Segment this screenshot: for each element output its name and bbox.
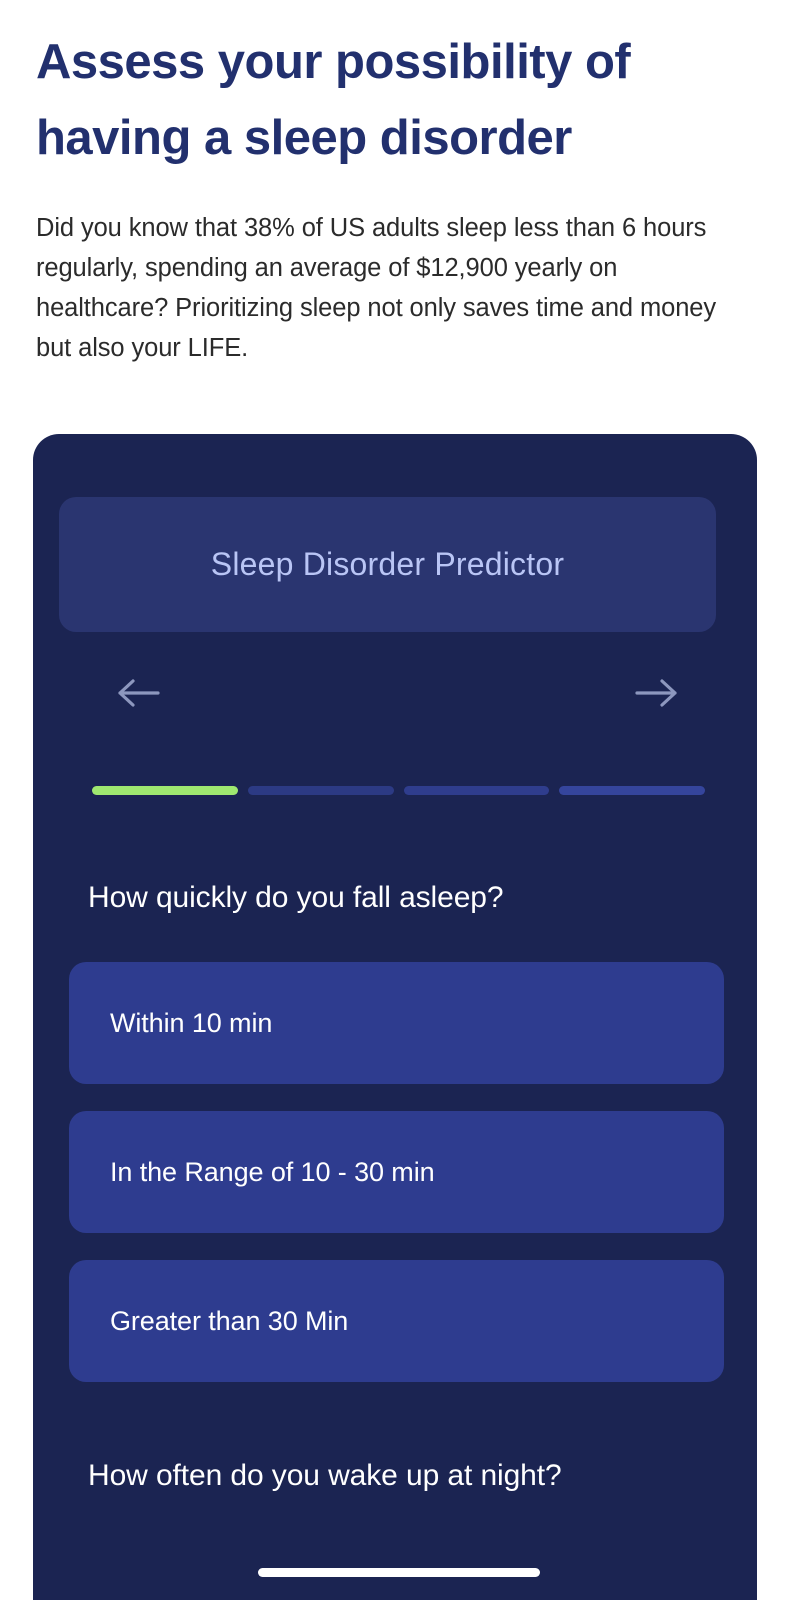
question-text-1: How quickly do you fall asleep? xyxy=(88,876,708,920)
progress-indicator xyxy=(92,786,705,795)
answer-option-label: Within 10 min xyxy=(110,1008,272,1039)
answer-option-2[interactable]: In the Range of 10 - 30 min xyxy=(69,1111,724,1233)
quiz-title-banner: Sleep Disorder Predictor xyxy=(59,497,716,632)
page-title: Assess your possibility of having a slee… xyxy=(36,24,736,176)
answer-option-label: In the Range of 10 - 30 min xyxy=(110,1157,435,1188)
quiz-title: Sleep Disorder Predictor xyxy=(211,546,564,583)
previous-question-button[interactable] xyxy=(107,662,169,724)
progress-segment-2 xyxy=(248,786,394,795)
intro-paragraph: Did you know that 38% of US adults sleep… xyxy=(36,176,741,368)
progress-segment-4 xyxy=(559,786,705,795)
next-question-button[interactable] xyxy=(626,662,688,724)
arrow-left-icon xyxy=(115,676,161,710)
quiz-nav-row xyxy=(59,662,716,732)
home-indicator[interactable] xyxy=(258,1568,540,1577)
answer-option-label: Greater than 30 Min xyxy=(110,1306,348,1337)
progress-segment-3 xyxy=(404,786,550,795)
arrow-right-icon xyxy=(634,676,680,710)
quiz-card: Sleep Disorder Predictor xyxy=(33,434,757,1600)
intro-section: Assess your possibility of having a slee… xyxy=(36,24,746,368)
progress-segment-1 xyxy=(92,786,238,795)
answer-option-1[interactable]: Within 10 min xyxy=(69,962,724,1084)
page-root: Assess your possibility of having a slee… xyxy=(0,0,808,1600)
answer-option-list: Within 10 min In the Range of 10 - 30 mi… xyxy=(69,962,724,1382)
question-text-2: How often do you wake up at night? xyxy=(88,1454,648,1498)
answer-option-3[interactable]: Greater than 30 Min xyxy=(69,1260,724,1382)
